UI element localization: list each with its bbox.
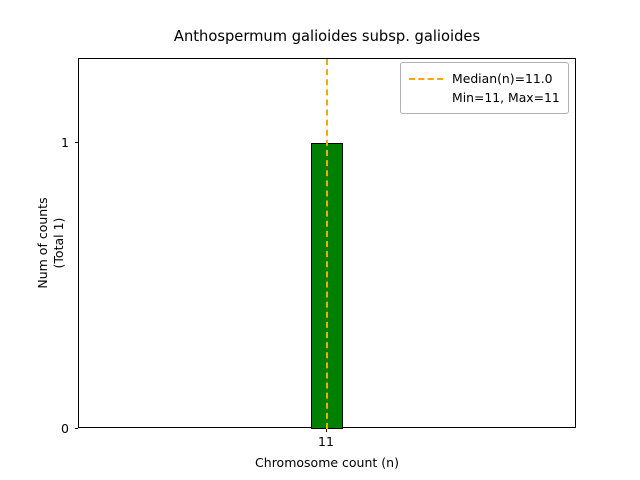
chart-title: Anthospermum galioides subsp. galioides	[78, 28, 576, 45]
legend-label-minmax: Min=11, Max=11	[452, 90, 560, 105]
chart-figure: Anthospermum galioides subsp. galioides …	[0, 0, 640, 480]
chart-legend: Median(n)=11.0 Min=11, Max=11	[400, 62, 569, 114]
y-tick-label-0: 0	[61, 421, 69, 436]
legend-label-median: Median(n)=11.0	[452, 71, 553, 86]
y-axis-label: Num of counts (Total 1)	[34, 58, 68, 428]
x-axis-label: Chromosome count (n)	[78, 455, 576, 470]
y-tick-label-1: 1	[61, 135, 69, 150]
legend-item-minmax: Min=11, Max=11	[409, 88, 560, 107]
x-tick-label-11: 11	[318, 434, 334, 449]
legend-item-median: Median(n)=11.0	[409, 69, 560, 88]
legend-dashed-line-icon	[409, 72, 443, 86]
median-line	[326, 59, 328, 429]
